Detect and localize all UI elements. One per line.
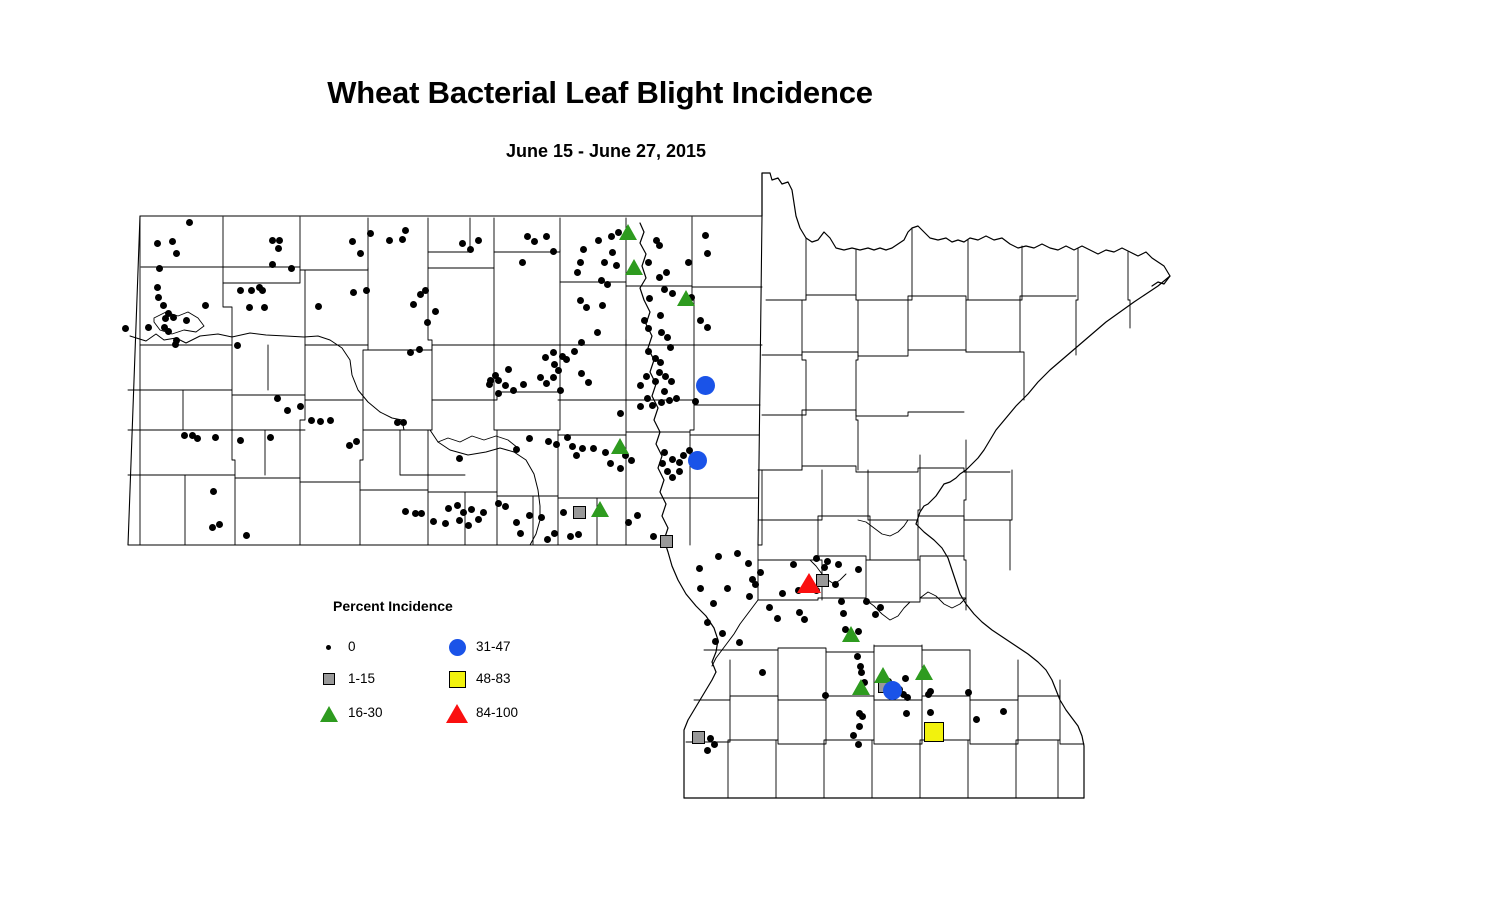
legend-label-0: 0 (348, 639, 356, 654)
marker-dot-0 (904, 694, 911, 701)
marker-dot-0 (710, 600, 717, 607)
marker-dot-0 (704, 747, 711, 754)
marker-dot-0 (563, 356, 570, 363)
marker-dot-0 (663, 269, 670, 276)
marker-dot-0 (454, 502, 461, 509)
marker-dot-0 (400, 419, 407, 426)
marker-dot-0 (237, 437, 244, 444)
marker-dot-0 (269, 237, 276, 244)
marker-dot-0 (550, 374, 557, 381)
marker-dot-0 (649, 402, 656, 409)
marker-dot-0 (634, 512, 641, 519)
marker-dot-0 (564, 434, 571, 441)
marker-dot-0 (155, 294, 162, 301)
marker-dot-0 (650, 533, 657, 540)
marker-dot-0 (243, 532, 250, 539)
marker-dot-0 (877, 604, 884, 611)
marker-dot-0 (903, 710, 910, 717)
marker-dot-0 (832, 581, 839, 588)
marker-dot-0 (154, 240, 161, 247)
marker-dot-0 (445, 505, 452, 512)
marker-dot-0 (557, 387, 564, 394)
marker-dot-0 (628, 457, 635, 464)
marker-dot-0 (604, 281, 611, 288)
marker-dot-0 (442, 520, 449, 527)
marker-dot-0 (609, 249, 616, 256)
marker-dot-0 (248, 287, 255, 294)
marker-dot-0 (210, 488, 217, 495)
marker-dot-0 (578, 339, 585, 346)
marker-dot-0 (169, 238, 176, 245)
marker-dot-0 (736, 639, 743, 646)
marker-dot-0 (752, 581, 759, 588)
marker-dot-0 (465, 522, 472, 529)
marker-dot-0 (863, 598, 870, 605)
legend: Percent Incidence 0 1-15 16-30 31-47 (318, 598, 558, 732)
marker-dot-0 (154, 284, 161, 291)
marker-dot-0 (835, 561, 842, 568)
marker-dot-0 (766, 604, 773, 611)
marker-dot-0 (537, 374, 544, 381)
marker-triangle-84-100 (797, 573, 821, 593)
marker-triangle-16-30 (625, 259, 643, 275)
marker-dot-0 (574, 269, 581, 276)
legend-label-84-100: 84-100 (476, 705, 518, 720)
marker-dot-0 (608, 233, 615, 240)
marker-dot-0 (520, 381, 527, 388)
marker-dot-0 (399, 236, 406, 243)
marker-dot-0 (796, 609, 803, 616)
marker-dot-0 (668, 378, 675, 385)
legend-label-16-30: 16-30 (348, 705, 383, 720)
marker-dot-0 (645, 325, 652, 332)
marker-dot-0 (513, 519, 520, 526)
marker-dot-0 (538, 514, 545, 521)
marker-dot-0 (315, 303, 322, 310)
marker-dot-0 (288, 265, 295, 272)
marker-dot-0 (495, 500, 502, 507)
marker-dot-0 (712, 638, 719, 645)
legend-label-48-83: 48-83 (476, 671, 511, 686)
marker-dot-0 (517, 530, 524, 537)
marker-dot-0 (402, 227, 409, 234)
marker-dot-0 (505, 366, 512, 373)
marker-dot-0 (585, 379, 592, 386)
marker-dot-0 (524, 233, 531, 240)
marker-dot-0 (172, 341, 179, 348)
marker-dot-0 (456, 455, 463, 462)
marker-dot-0 (475, 516, 482, 523)
marker-dot-0 (468, 506, 475, 513)
marker-dot-0 (601, 259, 608, 266)
marker-dot-0 (542, 354, 549, 361)
state-county-boundaries (0, 0, 1503, 900)
marker-dot-0 (902, 675, 909, 682)
marker-dot-0 (697, 585, 704, 592)
marker-dot-0 (673, 395, 680, 402)
marker-dot-0 (801, 616, 808, 623)
marker-dot-0 (664, 334, 671, 341)
map-canvas[interactable] (0, 0, 1503, 900)
marker-dot-0 (261, 304, 268, 311)
marker-dot-0 (573, 452, 580, 459)
marker-dot-0 (545, 438, 552, 445)
marker-dot-0 (595, 237, 602, 244)
marker-dot-0 (702, 232, 709, 239)
marker-dot-0 (858, 669, 865, 676)
legend-label-31-47: 31-47 (476, 639, 511, 654)
marker-dot-0 (607, 460, 614, 467)
marker-dot-0 (459, 240, 466, 247)
marker-dot-0 (209, 524, 216, 531)
marker-dot-0 (645, 259, 652, 266)
marker-dot-0 (237, 287, 244, 294)
marker-dot-0 (659, 460, 666, 467)
map-figure: Wheat Bacterial Leaf Blight Incidence Ju… (0, 0, 1503, 900)
marker-dot-0 (526, 435, 533, 442)
marker-dot-0 (973, 716, 980, 723)
marker-dot-0 (284, 407, 291, 414)
marker-triangle-16-30 (915, 664, 933, 680)
marker-dot-0 (430, 518, 437, 525)
marker-dot-0 (267, 434, 274, 441)
marker-dot-0 (216, 521, 223, 528)
marker-dot-0 (676, 459, 683, 466)
marker-dot-0 (715, 553, 722, 560)
marker-dot-0 (567, 533, 574, 540)
marker-square-1-15 (692, 731, 705, 744)
marker-dot-0 (657, 359, 664, 366)
marker-dot-0 (840, 610, 847, 617)
marker-dot-0 (544, 536, 551, 543)
marker-dot-0 (704, 619, 711, 626)
marker-dot-0 (156, 265, 163, 272)
marker-dot-0 (402, 508, 409, 515)
marker-dot-0 (274, 395, 281, 402)
marker-dot-0 (416, 346, 423, 353)
marker-dot-0 (854, 653, 861, 660)
marker-square-1-15 (573, 506, 586, 519)
gray-square-icon (318, 668, 340, 690)
marker-dot-0 (467, 246, 474, 253)
marker-dot-0 (676, 468, 683, 475)
marker-dot-0 (460, 509, 467, 516)
marker-dot-0 (308, 417, 315, 424)
marker-dot-0 (652, 378, 659, 385)
marker-dot-0 (386, 237, 393, 244)
marker-dot-0 (625, 519, 632, 526)
marker-dot-0 (666, 397, 673, 404)
marker-dot-0 (173, 250, 180, 257)
marker-dot-0 (259, 287, 266, 294)
marker-dot-0 (502, 382, 509, 389)
marker-dot-0 (711, 741, 718, 748)
marker-dot-0 (160, 302, 167, 309)
marker-dot-0 (657, 312, 664, 319)
marker-dot-0 (275, 245, 282, 252)
marker-dot-0 (822, 692, 829, 699)
marker-dot-0 (234, 342, 241, 349)
marker-dot-0 (579, 445, 586, 452)
marker-dot-0 (165, 328, 172, 335)
marker-dot-0 (170, 314, 177, 321)
marker-dot-0 (550, 349, 557, 356)
marker-dot-0 (492, 372, 499, 379)
marker-dot-0 (617, 410, 624, 417)
marker-dot-0 (551, 530, 558, 537)
marker-dot-0 (186, 219, 193, 226)
marker-dot-0 (850, 732, 857, 739)
marker-dot-0 (543, 233, 550, 240)
marker-dot-0 (669, 474, 676, 481)
marker-dot-0 (646, 295, 653, 302)
marker-square-1-15 (660, 535, 673, 548)
marker-dot-0 (734, 550, 741, 557)
marker-dot-0 (495, 390, 502, 397)
marker-dot-0 (696, 565, 703, 572)
marker-dot-0 (212, 434, 219, 441)
marker-dot-0 (475, 237, 482, 244)
marker-dot-0 (704, 324, 711, 331)
marker-dot-0 (599, 302, 606, 309)
blue-circle-icon (446, 636, 468, 658)
marker-dot-0 (202, 302, 209, 309)
marker-dot-0 (719, 630, 726, 637)
marker-dot-0 (637, 382, 644, 389)
marker-dot-0 (594, 329, 601, 336)
marker-dot-0 (658, 399, 665, 406)
marker-dot-0 (656, 274, 663, 281)
marker-dot-0 (578, 370, 585, 377)
marker-dot-0 (246, 304, 253, 311)
marker-dot-0 (658, 329, 665, 336)
marker-dot-0 (790, 561, 797, 568)
marker-dot-0 (297, 403, 304, 410)
marker-dot-0 (276, 237, 283, 244)
marker-dot-0 (194, 435, 201, 442)
marker-dot-0 (162, 315, 169, 322)
red-triangle-icon (446, 702, 468, 724)
marker-circle-31-47 (696, 376, 715, 395)
marker-dot-0 (859, 713, 866, 720)
marker-dot-0 (569, 443, 576, 450)
marker-dot-0 (183, 317, 190, 324)
marker-dot-0 (510, 387, 517, 394)
marker-dot-0 (661, 286, 668, 293)
marker-dot-0 (531, 238, 538, 245)
marker-dot-0 (513, 446, 520, 453)
marker-circle-31-47 (688, 451, 707, 470)
marker-dot-0 (1000, 708, 1007, 715)
marker-dot-0 (641, 317, 648, 324)
marker-dot-0 (602, 449, 609, 456)
marker-dot-0 (965, 689, 972, 696)
marker-dot-0 (357, 250, 364, 257)
marker-dot-0 (613, 262, 620, 269)
marker-dot-0 (550, 248, 557, 255)
marker-dot-0 (367, 230, 374, 237)
marker-dot-0 (571, 348, 578, 355)
marker-dot-0 (692, 398, 699, 405)
marker-circle-31-47 (883, 681, 902, 700)
marker-dot-0 (927, 688, 934, 695)
marker-dot-0 (350, 289, 357, 296)
marker-dot-0 (424, 319, 431, 326)
marker-dot-0 (759, 669, 766, 676)
marker-triangle-16-30 (611, 438, 629, 454)
marker-dot-0 (583, 304, 590, 311)
marker-dot-0 (645, 348, 652, 355)
marker-triangle-16-30 (619, 224, 637, 240)
marker-dot-0 (667, 344, 674, 351)
marker-dot-0 (872, 611, 879, 618)
marker-dot-0 (617, 465, 624, 472)
marker-dot-0 (327, 417, 334, 424)
marker-dot-0 (418, 510, 425, 517)
marker-dot-0 (697, 317, 704, 324)
marker-dot-0 (704, 250, 711, 257)
marker-dot-0 (181, 432, 188, 439)
marker-dot-0 (590, 445, 597, 452)
marker-dot-0 (560, 509, 567, 516)
marker-dot-0 (346, 442, 353, 449)
marker-dot-0 (656, 242, 663, 249)
marker-dot-0 (855, 566, 862, 573)
marker-dot-0 (662, 373, 669, 380)
marker-dot-0 (269, 261, 276, 268)
marker-dot-0 (410, 301, 417, 308)
marker-square-48-83 (924, 722, 944, 742)
marker-dot-0 (526, 512, 533, 519)
marker-dot-0 (407, 349, 414, 356)
marker-dot-0 (685, 259, 692, 266)
marker-dot-0 (838, 598, 845, 605)
small-dot-icon (318, 636, 340, 658)
marker-dot-0 (664, 468, 671, 475)
marker-dot-0 (577, 259, 584, 266)
marker-dot-0 (746, 593, 753, 600)
marker-dot-0 (927, 709, 934, 716)
marker-triangle-16-30 (852, 679, 870, 695)
marker-dot-0 (637, 403, 644, 410)
marker-dot-0 (543, 380, 550, 387)
marker-dot-0 (724, 585, 731, 592)
marker-dot-0 (661, 388, 668, 395)
marker-dot-0 (502, 503, 509, 510)
marker-dot-0 (779, 590, 786, 597)
marker-dot-0 (353, 438, 360, 445)
marker-dot-0 (757, 569, 764, 576)
marker-dot-0 (349, 238, 356, 245)
marker-dot-0 (855, 741, 862, 748)
marker-dot-0 (774, 615, 781, 622)
marker-dot-0 (317, 418, 324, 425)
marker-triangle-16-30 (591, 501, 609, 517)
green-triangle-icon (318, 702, 340, 724)
marker-dot-0 (680, 452, 687, 459)
yellow-square-icon (446, 668, 468, 690)
marker-dot-0 (669, 456, 676, 463)
marker-dot-0 (122, 325, 129, 332)
marker-dot-0 (432, 308, 439, 315)
marker-dot-0 (813, 555, 820, 562)
marker-dot-0 (856, 723, 863, 730)
legend-title: Percent Incidence (333, 598, 453, 614)
marker-dot-0 (643, 373, 650, 380)
legend-label-1-15: 1-15 (348, 671, 375, 686)
marker-dot-0 (644, 395, 651, 402)
marker-dot-0 (669, 290, 676, 297)
marker-dot-0 (519, 259, 526, 266)
marker-dot-0 (821, 564, 828, 571)
marker-triangle-16-30 (677, 290, 695, 306)
marker-dot-0 (661, 449, 668, 456)
marker-dot-0 (745, 560, 752, 567)
marker-dot-0 (580, 246, 587, 253)
marker-dot-0 (555, 367, 562, 374)
marker-dot-0 (577, 297, 584, 304)
marker-dot-0 (363, 287, 370, 294)
marker-dot-0 (456, 517, 463, 524)
marker-dot-0 (480, 509, 487, 516)
marker-triangle-16-30 (842, 626, 860, 642)
marker-dot-0 (575, 531, 582, 538)
marker-dot-0 (422, 287, 429, 294)
marker-dot-0 (145, 324, 152, 331)
marker-dot-0 (553, 441, 560, 448)
